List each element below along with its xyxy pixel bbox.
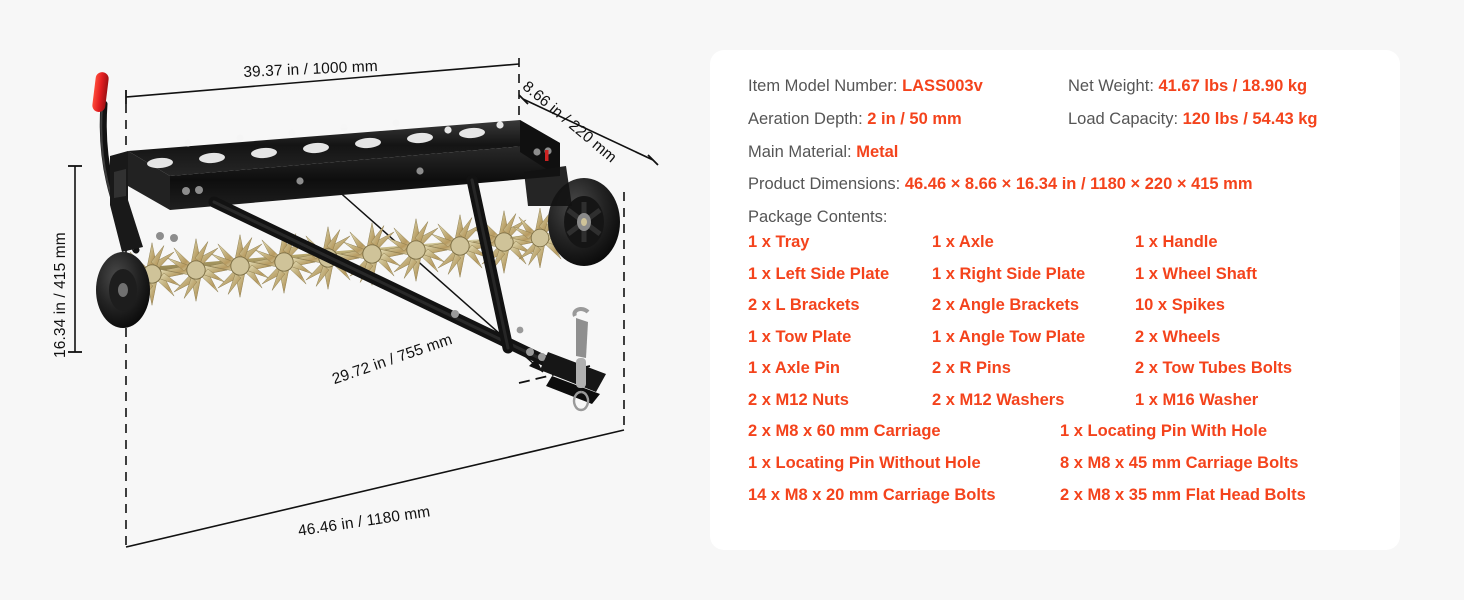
package-item: 1 x M16 Washer xyxy=(1135,388,1400,414)
spec-label-depth: Aeration Depth: xyxy=(748,110,863,128)
spec-label-dimensions: Product Dimensions: xyxy=(748,175,900,193)
package-item: 2 x M12 Nuts xyxy=(748,388,932,414)
spec-value-depth: 2 in / 50 mm xyxy=(867,110,961,128)
package-item: 1 x Angle Tow Plate xyxy=(932,325,1135,351)
package-item: 2 x Tow Tubes Bolts xyxy=(1135,356,1400,382)
package-item: 2 x M8 x 35 mm Flat Head Bolts xyxy=(1060,483,1400,509)
spec-label-capacity: Load Capacity: xyxy=(1068,110,1178,128)
spec-value-dimensions: 46.46 × 8.66 × 16.34 in / 1180 × 220 × 4… xyxy=(905,175,1253,193)
product-spec-page: 39.37 in / 1000 mm 8.66 in / 220 mm 16.3… xyxy=(0,0,1464,600)
spec-row-model: Item Model Number: LASS003v xyxy=(748,74,1068,99)
package-contents-title: Package Contents: xyxy=(748,208,1400,227)
spec-table: Item Model Number: LASS003v Net Weight: … xyxy=(748,74,1400,197)
package-contents-grid-three-column: 1 x Tray 1 x Axle 1 x Handle 1 x Left Si… xyxy=(748,230,1400,413)
package-item: 1 x Tow Plate xyxy=(748,325,932,351)
package-item: 2 x L Brackets xyxy=(748,293,932,319)
spike-assembly xyxy=(121,208,570,305)
package-contents-grid-two-column: 2 x M8 x 60 mm Carriage 1 x Locating Pin… xyxy=(748,419,1400,508)
package-item: 2 x Wheels xyxy=(1135,325,1400,351)
product-image-panel: 39.37 in / 1000 mm 8.66 in / 220 mm 16.3… xyxy=(0,0,700,600)
package-item: 1 x Locating Pin Without Hole xyxy=(748,451,1060,477)
spike-stars xyxy=(121,208,570,305)
spec-label-model: Item Model Number: xyxy=(748,77,897,95)
spec-value-capacity: 120 lbs / 54.43 kg xyxy=(1183,110,1318,128)
spec-row-capacity: Load Capacity: 120 lbs / 54.43 kg xyxy=(1068,107,1400,132)
package-item: 1 x Axle xyxy=(932,230,1135,256)
package-item: 10 x Spikes xyxy=(1135,293,1400,319)
spec-row-material: Main Material: Metal xyxy=(748,140,1400,165)
package-item: 2 x M12 Washers xyxy=(932,388,1135,414)
spec-row-weight: Net Weight: 41.67 lbs / 18.90 kg xyxy=(1068,74,1400,99)
wheel-left xyxy=(96,252,150,328)
spec-row-dimensions: Product Dimensions: 46.46 × 8.66 × 16.34… xyxy=(748,172,1400,197)
package-item: 2 x Angle Brackets xyxy=(932,293,1135,319)
tow-plate-hitch xyxy=(540,309,606,410)
tow-bar xyxy=(214,180,560,368)
package-item: 2 x M8 x 60 mm Carriage xyxy=(748,419,1060,445)
spec-value-material: Metal xyxy=(856,143,898,161)
spec-row-depth: Aeration Depth: 2 in / 50 mm xyxy=(748,107,1068,132)
spec-value-weight: 41.67 lbs / 18.90 kg xyxy=(1159,77,1308,95)
package-item: 1 x Tray xyxy=(748,230,932,256)
package-item: 1 x Right Side Plate xyxy=(932,262,1135,288)
package-item: 1 x Locating Pin With Hole xyxy=(1060,419,1400,445)
package-item: 1 x Wheel Shaft xyxy=(1135,262,1400,288)
specification-card: Item Model Number: LASS003v Net Weight: … xyxy=(710,50,1400,550)
package-item: 8 x M8 x 45 mm Carriage Bolts xyxy=(1060,451,1400,477)
package-item: 1 x Handle xyxy=(1135,230,1400,256)
spec-value-model: LASS003v xyxy=(902,77,983,95)
package-item: 1 x Left Side Plate xyxy=(748,262,932,288)
spec-label-weight: Net Weight: xyxy=(1068,77,1154,95)
dimension-label-height: 16.34 in / 415 mm xyxy=(52,232,70,358)
product-illustration xyxy=(0,0,700,600)
package-item: 14 x M8 x 20 mm Carriage Bolts xyxy=(748,483,1060,509)
package-item: 1 x Axle Pin xyxy=(748,356,932,382)
package-item: 2 x R Pins xyxy=(932,356,1135,382)
spec-label-material: Main Material: xyxy=(748,143,852,161)
